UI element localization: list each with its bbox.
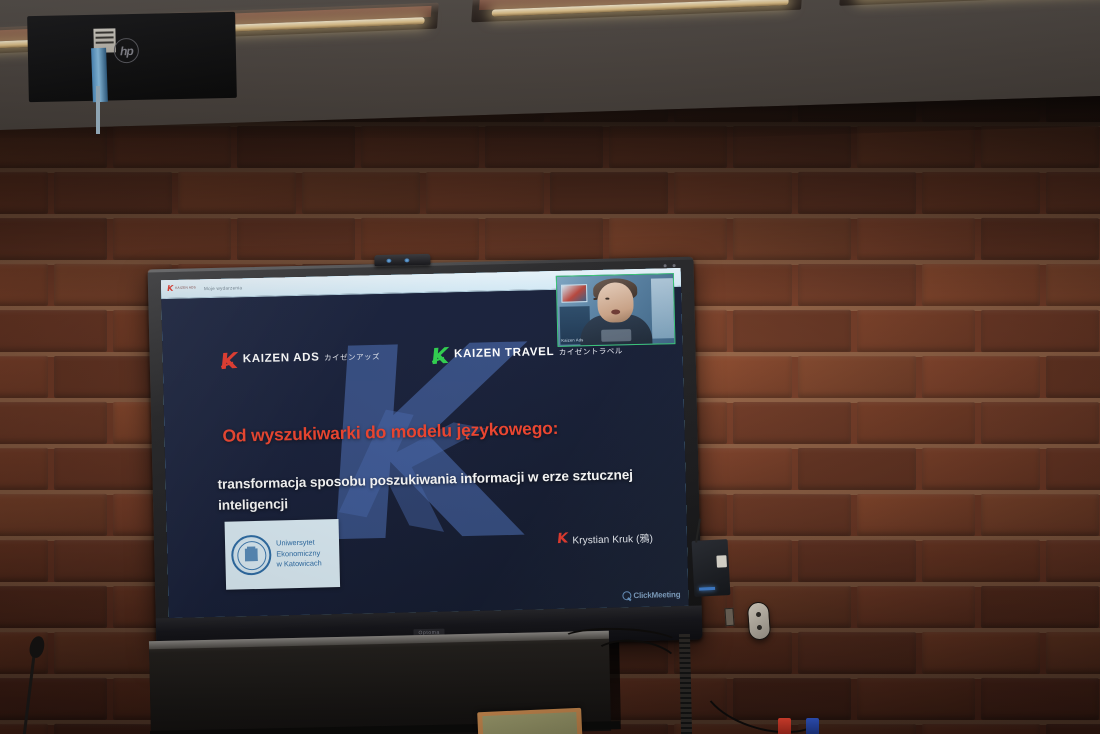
cable-rack [679, 634, 692, 734]
brick [1046, 356, 1100, 398]
university-line-1: Uniwersytet [276, 538, 321, 550]
presenter-face [597, 282, 634, 323]
participant-name-tag: Kaizen Ads [561, 337, 583, 343]
brick [922, 264, 1040, 306]
shirt-graphic [601, 329, 631, 342]
monitor-rear: hp [27, 12, 237, 102]
clickmeeting-watermark: ClickMeeting [622, 590, 680, 600]
hp-logo: hp [114, 38, 140, 64]
brand-name-japanese: カイゼントラベル [559, 346, 623, 357]
brick [857, 586, 975, 628]
brick [798, 632, 916, 674]
brick [0, 494, 107, 536]
brick [981, 310, 1099, 352]
brick [798, 448, 916, 490]
red-marker[interactable] [778, 718, 791, 734]
brand-name-japanese: カイゼンアッズ [324, 352, 380, 362]
brick [1046, 724, 1100, 734]
brick [302, 172, 420, 214]
background-doorway [651, 278, 674, 339]
background-picture [561, 284, 587, 303]
lecture-hall-scene: hp K KAIZEN ADS [0, 0, 1100, 734]
brick [1046, 540, 1100, 582]
brick [178, 172, 296, 214]
brand-kaizen-ads: K KAIZEN ADS カイゼンアッズ [220, 346, 380, 368]
clickmeeting-label: ClickMeeting [633, 590, 680, 600]
browser-brand-logo[interactable]: K KAIZEN ADS [167, 284, 196, 293]
brick [0, 172, 48, 214]
brick [0, 586, 107, 628]
brand-name: KAIZEN TRAVEL [454, 346, 555, 360]
tv-status-indicators [664, 264, 676, 267]
brick [922, 172, 1040, 214]
brick [1046, 172, 1100, 214]
brick [0, 310, 107, 352]
brick [922, 448, 1040, 490]
brick [857, 310, 975, 352]
speaker-name: Krystian Kruk (鴉) [572, 530, 653, 547]
wall-switch[interactable] [724, 608, 734, 627]
university-logo-block: Uniwersytet Ekonomiczny w Katowicach [225, 519, 341, 590]
brick [0, 356, 48, 398]
brick [1046, 264, 1100, 306]
webcam-video-tile[interactable]: Kaizen Ads [556, 273, 676, 347]
kaizen-travel-k-icon: K [431, 347, 449, 361]
brick [733, 310, 851, 352]
brick [54, 172, 172, 214]
power-outlet[interactable] [747, 601, 772, 640]
brick [733, 402, 851, 444]
brick [922, 540, 1040, 582]
brick [857, 678, 975, 720]
brick [922, 724, 1040, 734]
presenter-eye [593, 298, 597, 300]
kaizen-k-icon: K [556, 533, 568, 546]
nav-my-events[interactable]: Moje wydarzenia [204, 285, 242, 291]
brick [0, 218, 107, 260]
brick [0, 448, 48, 490]
brick [0, 264, 48, 306]
brick [609, 218, 727, 260]
brick [0, 678, 107, 720]
brick [798, 172, 916, 214]
wireless-access-point [692, 539, 731, 597]
university-line-3: w Katowicach [276, 559, 321, 571]
brick [237, 218, 355, 260]
brick [550, 172, 668, 214]
slide-subtitle: transformacja sposobu poszukiwania infor… [217, 464, 643, 516]
kaizen-k-icon: K [166, 285, 173, 293]
brick [922, 632, 1040, 674]
brick [674, 172, 792, 214]
brick [426, 172, 544, 214]
brick [485, 218, 603, 260]
brick [857, 218, 975, 260]
clickmeeting-q-icon [622, 591, 631, 600]
brick [857, 402, 975, 444]
brand-name: KAIZEN ADS [243, 351, 320, 365]
brick [733, 494, 851, 536]
brick [857, 494, 975, 536]
wooden-board [477, 708, 583, 734]
university-seal [231, 535, 272, 576]
brick [113, 218, 231, 260]
browser-brand-name: KAIZEN ADS [175, 287, 196, 291]
conference-camera [374, 254, 430, 266]
brick [0, 402, 107, 444]
wall-mounted-display[interactable]: K KAIZEN ADS Moje wydarzenia K K K KAIZE… [148, 257, 703, 653]
brick [981, 494, 1099, 536]
kaizen-ads-k-icon: K [220, 352, 238, 366]
brick [0, 540, 48, 582]
brick [981, 126, 1099, 168]
display-screen[interactable]: K KAIZEN ADS Moje wydarzenia K K K KAIZE… [161, 268, 689, 618]
brick [1046, 632, 1100, 674]
presenter-eye [605, 298, 609, 300]
brick [981, 586, 1099, 628]
brick [798, 264, 916, 306]
speaker-credit: K Krystian Kruk (鴉) [556, 530, 653, 547]
brick [798, 356, 916, 398]
brick [1046, 448, 1100, 490]
monitor-pole [96, 86, 100, 134]
brick [798, 540, 916, 582]
brick [981, 402, 1099, 444]
brick [733, 218, 851, 260]
blue-marker[interactable] [806, 718, 819, 734]
brick [981, 678, 1099, 720]
brick [922, 356, 1040, 398]
brick [981, 218, 1099, 260]
